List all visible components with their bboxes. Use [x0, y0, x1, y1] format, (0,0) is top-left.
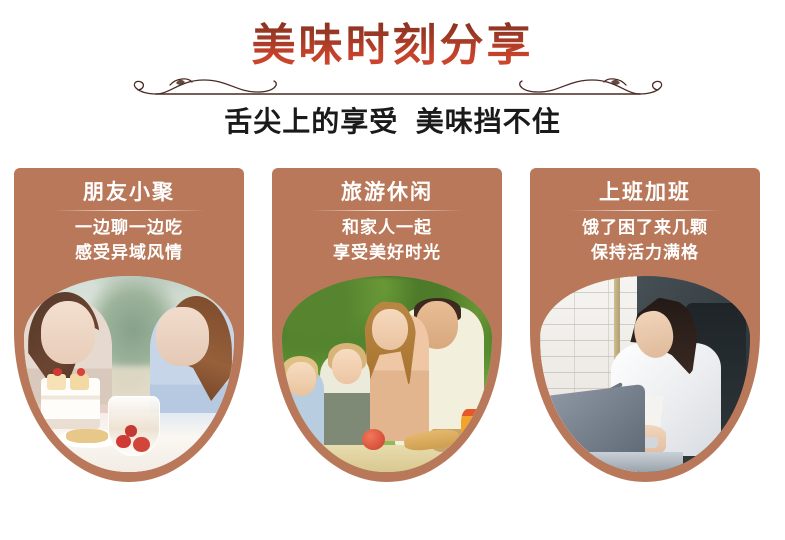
scenario-card-row: 朋友小聚 一边聊一边吃 感受异域风情	[0, 168, 785, 498]
card-title-divider	[52, 210, 206, 211]
card-line-2: 感受异域风情	[14, 241, 244, 266]
scenario-card-travel[interactable]: 旅游休闲 和家人一起 享受美好时光	[272, 168, 502, 482]
card-photo-friends	[24, 276, 234, 472]
card-title-divider	[310, 210, 464, 211]
card-title: 上班加班	[530, 176, 760, 206]
page-title: 美味时刻分享	[0, 22, 785, 70]
card-line-2: 享受美好时光	[272, 241, 502, 266]
card-photo-travel	[282, 276, 492, 472]
page-header: 美味时刻分享 舌尖上的享受 美味挡不住	[0, 0, 785, 160]
card-title: 朋友小聚	[14, 176, 244, 206]
card-title: 旅游休闲	[272, 176, 502, 206]
flourish-divider-icon	[118, 74, 678, 100]
card-line-1: 一边聊一边吃	[14, 216, 244, 241]
card-line-2: 保持活力满格	[530, 241, 760, 266]
card-title-divider	[568, 210, 722, 211]
scenario-card-work[interactable]: 上班加班 饿了困了来几颗 保持活力满格	[530, 168, 760, 482]
card-photo-work	[540, 276, 750, 472]
card-line-1: 和家人一起	[272, 216, 502, 241]
page-subtitle: 舌尖上的享受 美味挡不住	[0, 100, 785, 140]
ornamental-divider	[118, 74, 678, 100]
card-description: 一边聊一边吃 感受异域风情	[14, 216, 244, 265]
card-description: 和家人一起 享受美好时光	[272, 216, 502, 265]
card-line-1: 饿了困了来几颗	[530, 216, 760, 241]
card-description: 饿了困了来几颗 保持活力满格	[530, 216, 760, 265]
scenario-card-friends[interactable]: 朋友小聚 一边聊一边吃 感受异域风情	[14, 168, 244, 482]
